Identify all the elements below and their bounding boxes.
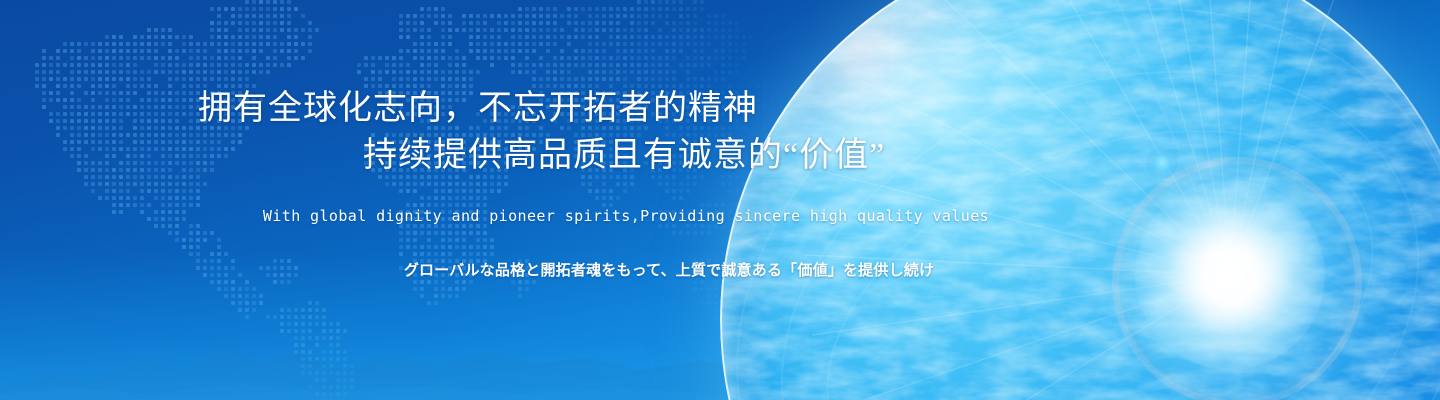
banner-text-block: 拥有全球化志向，不忘开拓者的精神 持续提供高品质且有诚意的“价值” With g… — [0, 0, 1440, 400]
globe-body — [720, 0, 1440, 400]
subtitle-english: With global dignity and pioneer spirits,… — [0, 207, 1252, 225]
mountain-silhouette — [0, 290, 1240, 400]
headline-line-2: 持续提供高品质且有诚意的“价值” — [363, 139, 885, 173]
earth-globe — [720, 0, 1440, 400]
hero-banner: 拥有全球化志向，不忘开拓者的精神 持续提供高品质且有诚意的“价值” With g… — [0, 0, 1440, 400]
lens-flare-dot — [1146, 147, 1178, 179]
dotted-world-map — [0, 0, 820, 400]
headline-line-1: 拥有全球化志向，不忘开拓者的精神 — [198, 92, 758, 126]
globe-rim-highlight — [720, 0, 1440, 400]
globe-surface-texture — [720, 0, 1440, 400]
subtitle-japanese: グローバルな品格と開拓者魂をもって、上質で誠意ある「価値」を提供し続け — [0, 259, 1338, 280]
